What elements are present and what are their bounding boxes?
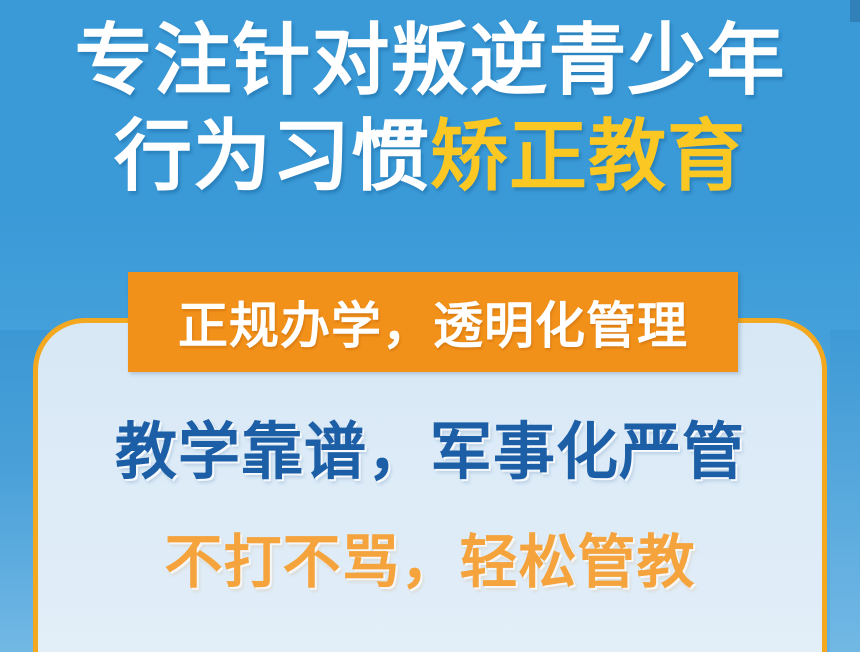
- headline-line-2-highlight-text: 矫正教育: [430, 112, 746, 200]
- headline-block: 专注针对叛逆青少年 行为习惯矫正教育: [0, 18, 860, 198]
- promo-poster: 专注针对叛逆青少年 行为习惯矫正教育 正规办学，透明化管理 教学靠谱，军事化严管…: [0, 0, 860, 652]
- highlight-banner-text: 正规办学，透明化管理: [178, 286, 688, 358]
- feature-line-1: 教学靠谱，军事化严管: [38, 401, 822, 491]
- highlight-banner: 正规办学，透明化管理: [128, 272, 738, 372]
- headline-line-1-text: 专注针对叛逆青少年: [74, 16, 785, 104]
- headline-line-1: 专注针对叛逆青少年: [0, 18, 860, 102]
- background-shade-right: [830, 330, 860, 652]
- headline-line-2: 行为习惯矫正教育: [0, 114, 860, 198]
- headline-line-2-white-text: 行为习惯: [114, 112, 430, 200]
- feature-line-2: 不打不骂，轻松管教: [38, 515, 822, 599]
